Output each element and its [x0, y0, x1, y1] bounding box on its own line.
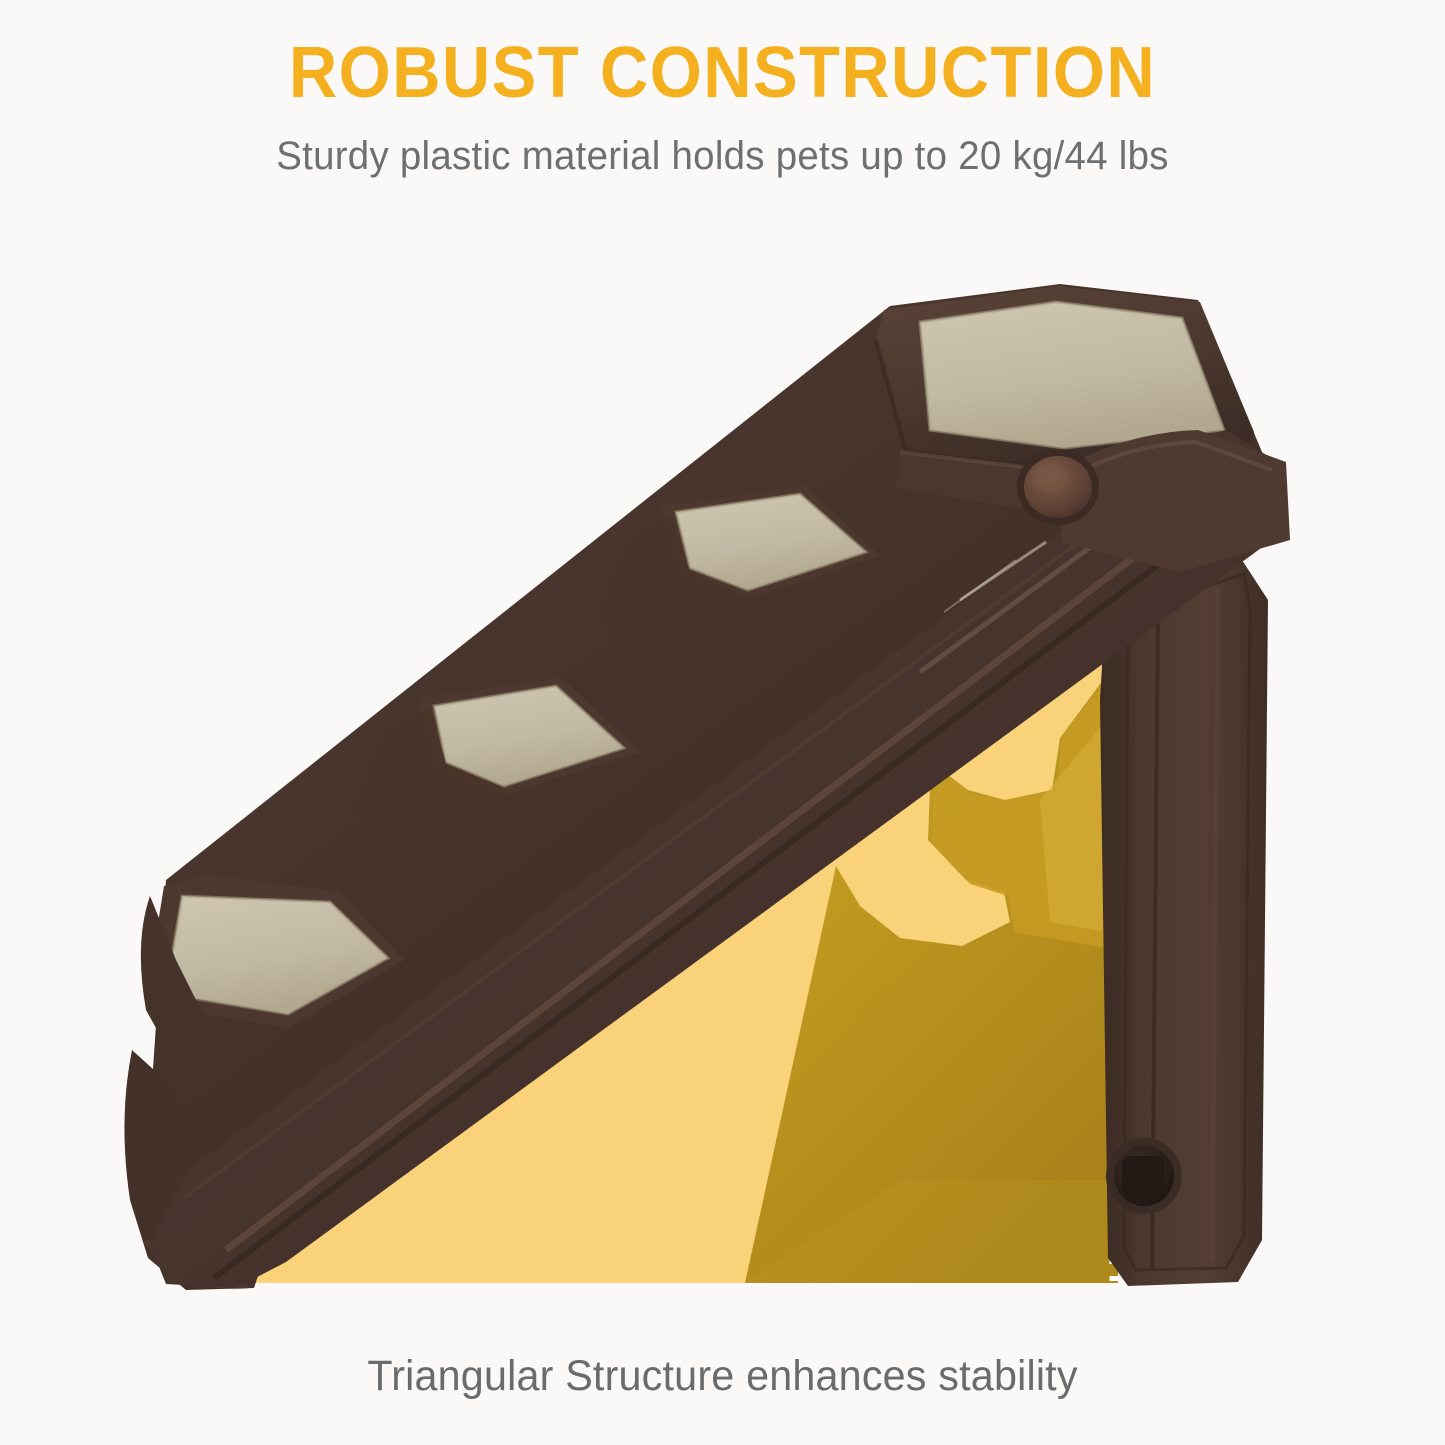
rear-support-leg — [1100, 560, 1268, 1286]
product-illustration — [0, 0, 1445, 1445]
product-feature-image: ROBUST CONSTRUCTION Sturdy plastic mater… — [0, 0, 1445, 1445]
pivot-knob-icon — [1017, 449, 1099, 525]
leg-bolt-icon — [1106, 1138, 1182, 1214]
pet-stairs-graphic — [0, 0, 1445, 1445]
step-4-carpet — [920, 302, 1224, 448]
feature-caption: Triangular Structure enhances stability — [29, 1352, 1416, 1401]
